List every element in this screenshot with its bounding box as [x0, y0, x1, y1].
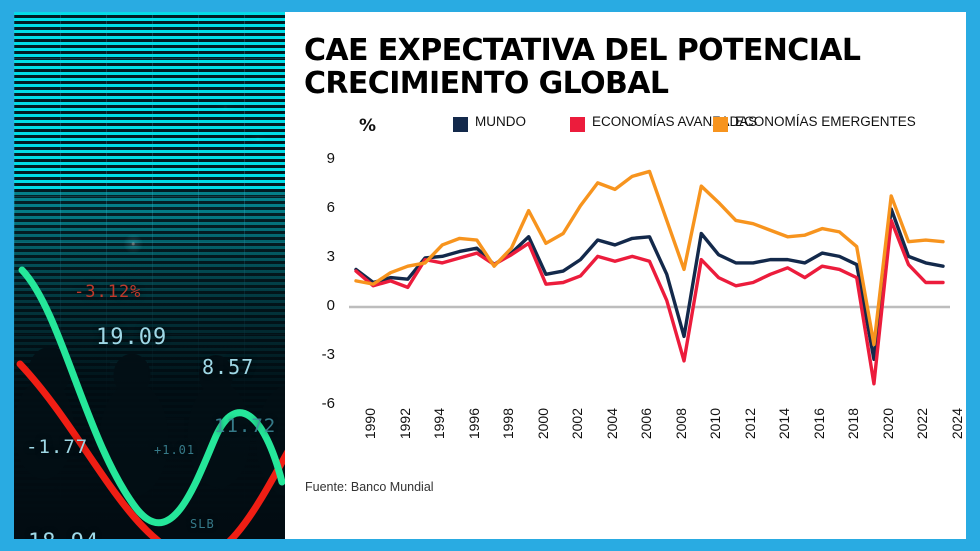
- x-tick-1998: 1998: [500, 408, 516, 439]
- x-tick-2006: 2006: [638, 408, 654, 439]
- y-tick-6: 6: [305, 199, 335, 216]
- legend-label-emergentes: ECONOMÍAS EMERGENTES: [735, 115, 916, 130]
- x-tick-2000: 2000: [535, 408, 551, 439]
- photo-number-2: 8.57: [202, 355, 254, 379]
- legend-swatch-emergentes: [713, 117, 728, 132]
- legend-item-mundo: MUNDO: [453, 115, 526, 132]
- legend-swatch-avanzadas: [570, 117, 585, 132]
- series-canvas: [349, 160, 950, 405]
- legend-swatch-mundo: [453, 117, 468, 132]
- legend-item-emergentes: ECONOMÍAS EMERGENTES: [713, 115, 916, 132]
- chart-card: CAE EXPECTATIVA DEL POTENCIAL CRECIMIENT…: [285, 12, 966, 539]
- photo-number-7: SLB: [190, 517, 215, 531]
- x-tick-2018: 2018: [845, 408, 861, 439]
- x-tick-2014: 2014: [776, 408, 792, 439]
- source-note: Fuente: Banco Mundial: [305, 480, 434, 494]
- x-tick-2010: 2010: [707, 408, 723, 439]
- x-axis-tick-labels: 1990199219941996199820002002200420062008…: [349, 408, 950, 474]
- photo-green-curve: [14, 12, 285, 539]
- photo-number-5: +1.01: [154, 443, 195, 457]
- axis-unit-label: %: [359, 116, 376, 136]
- title-line-1: CAE EXPECTATIVA DEL POTENCIAL: [304, 33, 860, 68]
- photo-number-4: -1.77: [26, 436, 88, 458]
- x-tick-2012: 2012: [742, 408, 758, 439]
- y-tick-0: 0: [305, 297, 335, 314]
- x-tick-2016: 2016: [811, 408, 827, 439]
- photo-number-3: 11.72: [214, 415, 276, 437]
- title-line-2: CRECIMIENTO GLOBAL: [304, 67, 954, 100]
- x-tick-2004: 2004: [604, 408, 620, 439]
- y-tick--3: -3: [305, 346, 335, 363]
- series-line-0: [356, 209, 943, 359]
- x-tick-2002: 2002: [569, 408, 585, 439]
- plot-area: 9630-3-6 1990199219941996199820002002200…: [305, 160, 950, 405]
- photo-number-6: 18.94: [28, 530, 99, 539]
- decorative-finance-photo: -3.12%19.098.5711.72-1.77+1.0118.94SLB: [14, 12, 285, 539]
- photo-number-0: -3.12%: [74, 282, 141, 302]
- x-tick-1994: 1994: [431, 408, 447, 439]
- photo-number-1: 19.09: [96, 325, 167, 350]
- page-title: CAE EXPECTATIVA DEL POTENCIAL CRECIMIENT…: [304, 34, 954, 100]
- x-tick-1992: 1992: [397, 408, 413, 439]
- x-tick-2020: 2020: [880, 408, 896, 439]
- y-tick--6: -6: [305, 395, 335, 412]
- x-tick-1990: 1990: [362, 408, 378, 439]
- chart-legend: % MUNDO ECONOMÍAS AVANZADAS ECONOMÍAS EM…: [305, 110, 955, 158]
- line-chart-svg: [349, 160, 950, 405]
- x-tick-1996: 1996: [466, 408, 482, 439]
- x-tick-2022: 2022: [914, 408, 930, 439]
- legend-label-mundo: MUNDO: [475, 115, 526, 130]
- infographic-frame: -3.12%19.098.5711.72-1.77+1.0118.94SLB C…: [0, 0, 980, 551]
- y-tick-9: 9: [305, 150, 335, 167]
- x-tick-2008: 2008: [673, 408, 689, 439]
- y-tick-3: 3: [305, 248, 335, 265]
- series-line-2: [356, 171, 943, 344]
- x-tick-2024: 2024: [949, 408, 965, 439]
